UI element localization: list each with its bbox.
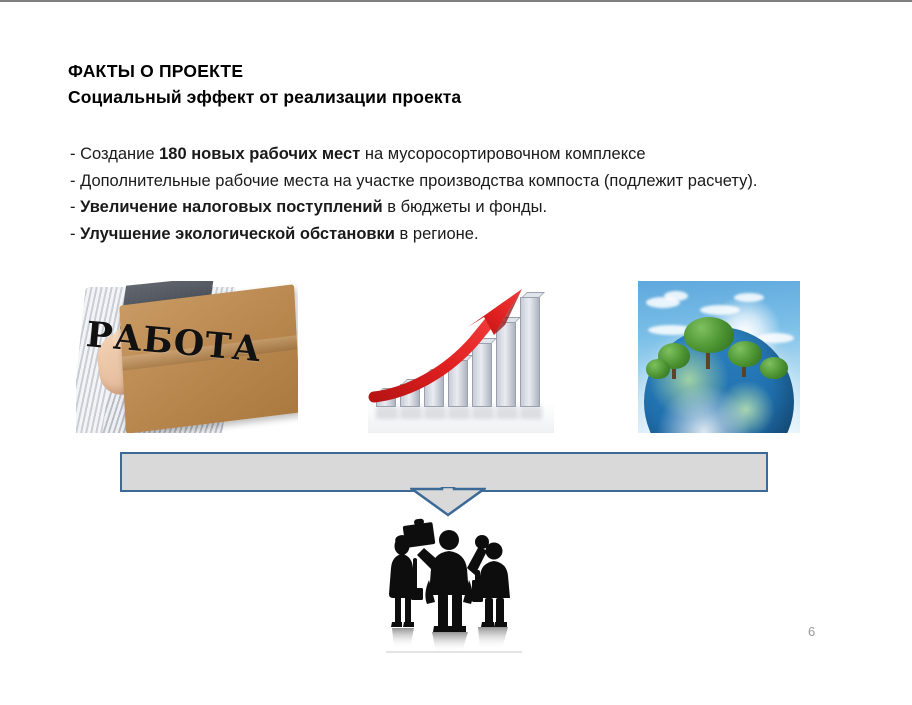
callout-box[interactable] xyxy=(120,452,768,492)
slide-canvas: ФАКТЫ О ПРОЕКТЕ Социальный эффект от реа… xyxy=(0,0,912,705)
cloud-shape xyxy=(700,305,740,315)
silhouette-woman xyxy=(389,535,423,627)
tree-shape xyxy=(684,317,734,353)
eco-earth-globe-image xyxy=(638,281,800,433)
tree-shape xyxy=(760,357,788,379)
red-growth-arrow-icon xyxy=(368,281,554,433)
cloud-shape xyxy=(664,291,688,301)
tree-shape xyxy=(728,341,762,367)
tree-shape xyxy=(646,359,670,379)
growth-bar-chart-image xyxy=(368,281,554,433)
hand-holding-job-sign-photo: РАБОТА xyxy=(76,281,298,433)
business-people-silhouette-image xyxy=(372,506,532,656)
page-number: 6 xyxy=(808,624,815,639)
cloud-shape xyxy=(734,293,764,302)
